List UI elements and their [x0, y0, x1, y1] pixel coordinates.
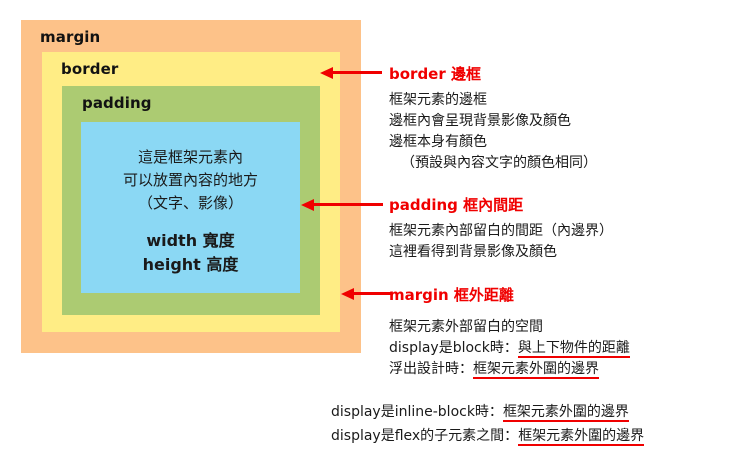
rule-underlined: 框架元素外圍的邊界 [473, 361, 599, 379]
content-dimensions: width 寬度 height 高度 [81, 229, 300, 277]
rule-prefix: 浮出設計時： [389, 361, 473, 377]
border-annotation-line: （預設與內容文字的顏色相同） [389, 153, 597, 174]
rule-prefix: display是block時： [389, 340, 518, 356]
padding-annotation: padding 框內間距 框架元素內部留白的間距（內邊界） 這裡看得到背景影像及… [389, 194, 613, 263]
border-annotation: border 邊框 框架元素的邊框 邊框內會呈現背景影像及顏色 邊框本身有顏色 … [389, 63, 597, 174]
extra-rule: display是inline-block時：框架元素外圍的邊界 [331, 400, 644, 424]
border-arrow-icon [320, 67, 382, 79]
rule-prefix: display是inline-block時： [331, 404, 503, 420]
padding-annotation-line: 框架元素內部留白的間距（內邊界） [389, 221, 613, 242]
rule-prefix: display是flex的子元素之間： [331, 428, 518, 444]
margin-annotation-rule: 浮出設計時：框架元素外圍的邊界 [389, 359, 630, 380]
content-line: 可以放置內容的地方 [81, 169, 300, 192]
margin-annotation: margin 框外距離 框架元素外部留白的空間 display是block時：與… [389, 284, 630, 380]
border-annotation-line: 框架元素的邊框 [389, 90, 597, 111]
margin-annotation-line: 框架元素外部留白的空間 [389, 317, 630, 338]
margin-arrow-icon [341, 288, 391, 300]
rule-underlined: 框架元素外圍的邊界 [518, 428, 644, 446]
padding-annotation-title: padding 框內間距 [389, 194, 613, 215]
content-line: （文字、影像） [81, 192, 300, 215]
padding-arrow-icon [301, 199, 383, 211]
arrow-shaft [312, 203, 383, 206]
rule-underlined: 框架元素外圍的邊界 [503, 404, 629, 422]
padding-label: padding [82, 94, 152, 112]
height-dimension: height 高度 [81, 253, 300, 277]
content-layer: 這是框架元素內 可以放置內容的地方 （文字、影像） width 寬度 heigh… [81, 122, 300, 293]
border-annotation-title: border 邊框 [389, 63, 597, 84]
rule-underlined: 與上下物件的距離 [518, 340, 630, 358]
content-text-block: 這是框架元素內 可以放置內容的地方 （文字、影像） width 寬度 heigh… [81, 146, 300, 277]
margin-label: margin [40, 28, 100, 46]
box-model-diagram: margin border padding 這是框架元素內 可以放置內容的地方 … [21, 20, 361, 353]
arrow-shaft [331, 71, 382, 74]
border-annotation-line: 邊框內會呈現背景影像及顏色 [389, 111, 597, 132]
extra-rule: display是flex的子元素之間：框架元素外圍的邊界 [331, 424, 644, 448]
border-label: border [61, 60, 118, 78]
arrow-shaft [352, 292, 391, 295]
width-dimension: width 寬度 [81, 229, 300, 253]
extra-rules-annotation: display是inline-block時：框架元素外圍的邊界 display是… [331, 400, 644, 448]
margin-annotation-title: margin 框外距離 [389, 284, 630, 305]
padding-annotation-line: 這裡看得到背景影像及顏色 [389, 242, 613, 263]
margin-annotation-rule: display是block時：與上下物件的距離 [389, 338, 630, 359]
content-line: 這是框架元素內 [81, 146, 300, 169]
border-annotation-line: 邊框本身有顏色 [389, 132, 597, 153]
